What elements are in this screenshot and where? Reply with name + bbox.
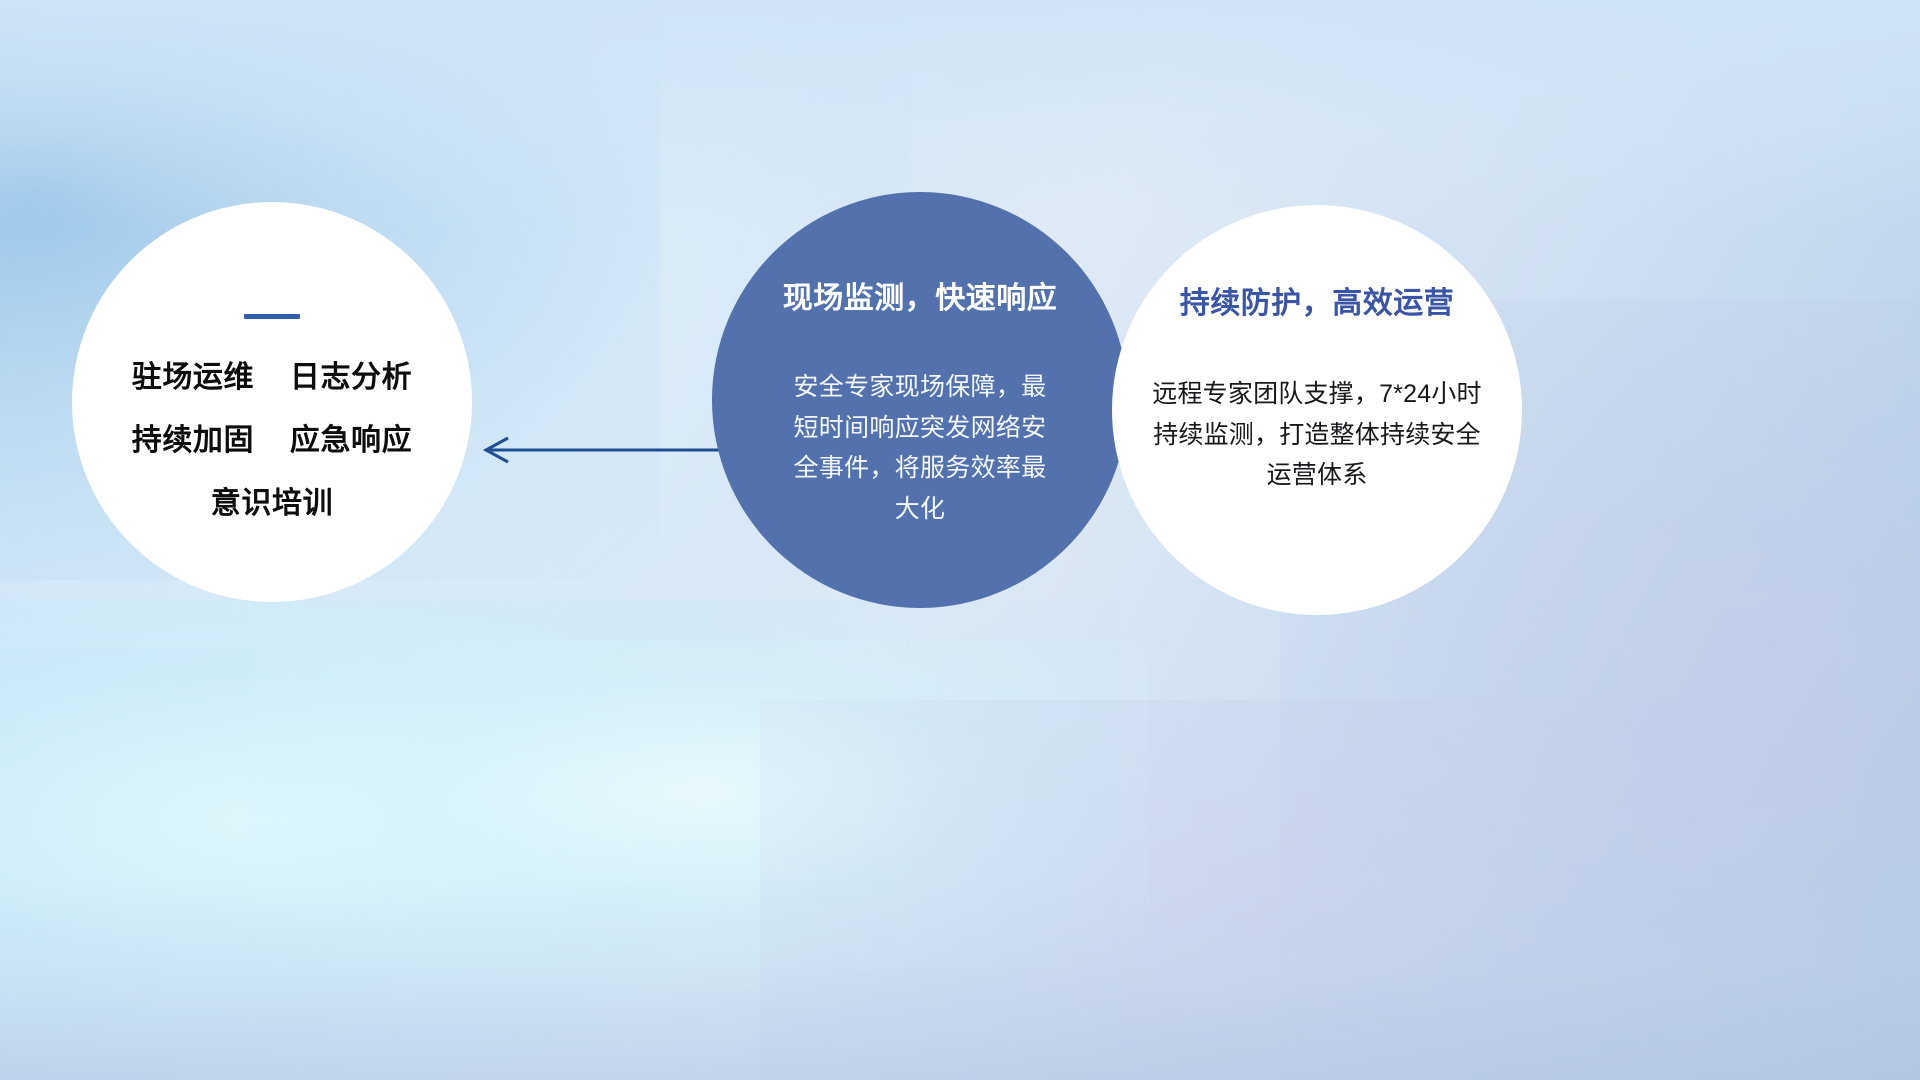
background-bottom-fade (0, 880, 1920, 1080)
onsite-monitoring-title: 现场监测，快速响应 (783, 282, 1058, 315)
dash-divider (244, 314, 300, 319)
list-item: 意识培训 (132, 489, 413, 519)
continuous-protection-body: 远程专家团队支撑，7*24小时持续监测，打造整体持续安全运营体系 (1146, 374, 1488, 496)
circle-continuous-protection[interactable]: 持续防护，高效运营 远程专家团队支撑，7*24小时持续监测，打造整体持续安全运营… (1112, 205, 1522, 615)
list-item: 驻场运维 日志分析 (132, 363, 413, 393)
service-capability-list: 驻场运维 日志分析 持续加固 应急响应 意识培训 (132, 363, 413, 519)
list-item: 持续加固 应急响应 (132, 426, 413, 456)
circle-onsite-monitoring[interactable]: 现场监测，快速响应 安全专家现场保障，最短时间响应突发网络安全事件，将服务效率最… (712, 192, 1128, 608)
onsite-monitoring-body: 安全专家现场保障，最短时间响应突发网络安全事件，将服务效率最大化 (784, 367, 1056, 529)
circle-service-capabilities[interactable]: 驻场运维 日志分析 持续加固 应急响应 意识培训 (72, 202, 472, 602)
continuous-protection-title: 持续防护，高效运营 (1180, 287, 1455, 320)
